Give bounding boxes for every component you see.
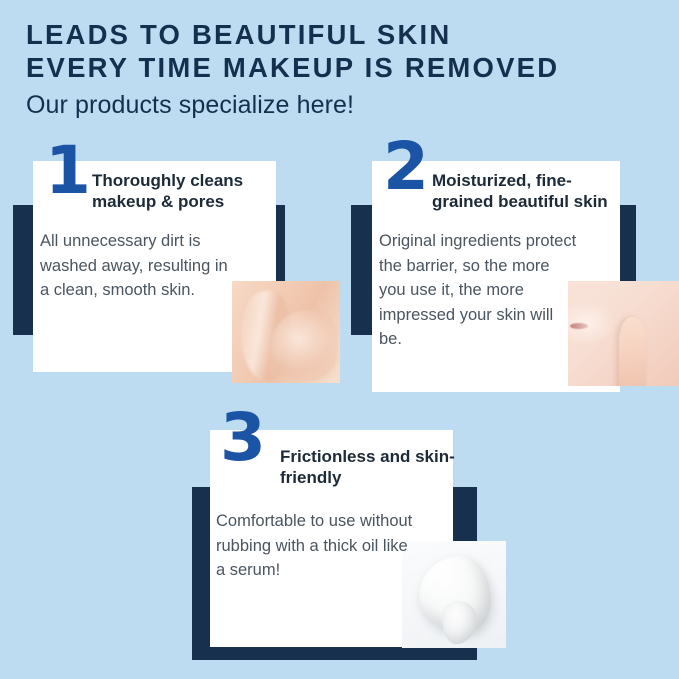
face-touching-cheek-photo xyxy=(568,281,679,386)
cream-serum-swatch-image xyxy=(402,541,506,648)
card-heading-2: Moisturized, fine-grained beautiful skin xyxy=(432,170,632,212)
card-body-1: All unnecessary dirt is washed away, res… xyxy=(40,229,240,303)
cream-serum-swatch-photo xyxy=(402,541,506,648)
card-number-2: 2 xyxy=(383,134,428,200)
benefit-card-1: 1 Thoroughly cleans makeup & pores All u… xyxy=(0,140,350,400)
headline-line-1: LEADS TO BEAUTIFUL SKIN xyxy=(26,18,666,51)
card-heading-3: Frictionless and skin-friendly xyxy=(280,446,465,488)
benefit-card-2: 2 Moisturized, fine-grained beautiful sk… xyxy=(340,140,679,400)
card-number-1: 1 xyxy=(45,138,90,204)
infographic-root: LEADS TO BEAUTIFUL SKIN EVERY TIME MAKEU… xyxy=(0,0,679,679)
face-touching-cheek-image xyxy=(568,281,679,386)
skin-closeup-photo xyxy=(232,281,340,383)
headline-line-2: EVERY TIME MAKEUP IS REMOVED xyxy=(26,51,666,84)
skin-closeup-image xyxy=(232,281,340,383)
card-body-2: Original ingredients protect the barrier… xyxy=(379,229,579,352)
header-block: LEADS TO BEAUTIFUL SKIN EVERY TIME MAKEU… xyxy=(26,18,666,122)
card-number-3: 3 xyxy=(220,405,265,471)
benefit-card-3: 3 Frictionless and skin-friendly Comfort… xyxy=(180,405,520,679)
card-heading-1: Thoroughly cleans makeup & pores xyxy=(92,170,287,212)
card-body-3: Comfortable to use without rubbing with … xyxy=(216,509,416,583)
subheadline: Our products specialize here! xyxy=(26,88,666,122)
